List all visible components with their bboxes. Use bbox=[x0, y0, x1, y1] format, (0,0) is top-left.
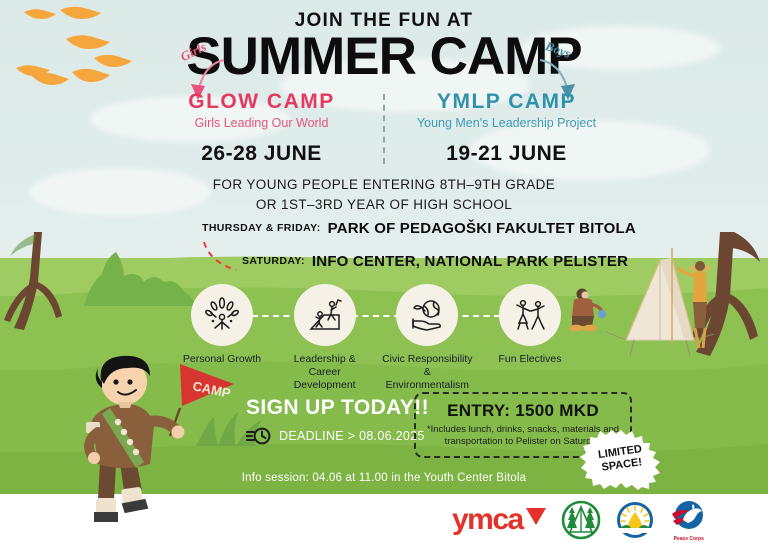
entry-price: ENTRY: 1500 MKD bbox=[424, 401, 622, 421]
feature-personal-growth: Personal Growth bbox=[176, 284, 268, 366]
summer-camp-poster: CAMP JOIN THE F bbox=[0, 0, 768, 543]
feature-label: Personal Growth bbox=[176, 353, 268, 366]
feature-icon-circle bbox=[191, 284, 253, 346]
locations-list: THURSDAY & FRIDAY: PARK OF PEDAGOŠKI FAK… bbox=[196, 216, 616, 282]
camp-columns: GLOW CAMP Girls Leading Our World 26-28 … bbox=[0, 90, 768, 166]
location-value: PARK OF PEDAGOŠKI FAKULTET BITOLA bbox=[328, 220, 636, 237]
feature-label: Leadership & Career Development bbox=[279, 353, 371, 392]
camp-glow: GLOW CAMP Girls Leading Our World 26-28 … bbox=[144, 90, 379, 166]
climbing-ladder-icon bbox=[305, 295, 345, 335]
features-list: Personal Growth Leadership & Career Deve… bbox=[176, 284, 576, 392]
camp-divider bbox=[383, 94, 385, 164]
camp-ymlp: YMLP CAMP Young Men's Leadership Project… bbox=[389, 90, 624, 166]
ymca-logo: ymca bbox=[452, 505, 547, 535]
audience-line-1: FOR YOUNG PEOPLE ENTERING 8TH–9TH GRADE bbox=[0, 175, 768, 195]
info-session-text: Info session: 04.06 at 11.00 in the Yout… bbox=[0, 472, 768, 484]
feature-label: Fun Electives bbox=[484, 353, 576, 366]
dancing-people-icon bbox=[510, 295, 550, 335]
clock-speed-icon bbox=[246, 426, 272, 446]
location-label: SATURDAY: bbox=[242, 255, 305, 267]
location-row: THURSDAY & FRIDAY: PARK OF PEDAGOŠKI FAK… bbox=[196, 216, 616, 240]
deadline-text: DEADLINE > 08.06.2025 bbox=[279, 429, 425, 443]
camp-forest-logo bbox=[561, 500, 601, 540]
camp-subtitle: Girls Leading Our World bbox=[144, 116, 379, 130]
camp-dates: 19-21 JUNE bbox=[389, 142, 624, 166]
camp-name: YMLP CAMP bbox=[389, 90, 624, 114]
feature-label: Civic Responsibility & Environmentalism bbox=[381, 353, 473, 392]
feature-leadership: Leadership & Career Development bbox=[279, 284, 371, 392]
camp-name: GLOW CAMP bbox=[144, 90, 379, 114]
location-value: INFO CENTER, NATIONAL PARK PELISTER bbox=[312, 253, 628, 270]
camp-subtitle: Young Men's Leadership Project bbox=[389, 116, 624, 130]
ymca-triangle-icon bbox=[525, 507, 547, 527]
location-label: THURSDAY & FRIDAY: bbox=[202, 222, 321, 234]
signup-title: SIGN UP TODAY!! bbox=[246, 396, 429, 420]
feature-icon-circle bbox=[499, 284, 561, 346]
signup-block: SIGN UP TODAY!! DEADLINE > 08.06.2025 bbox=[246, 396, 429, 446]
peace-corps-label: Peace Corps bbox=[669, 536, 709, 542]
location-row: SATURDAY: INFO CENTER, NATIONAL PARK PEL… bbox=[236, 249, 616, 273]
feature-civic: Civic Responsibility & Environmentalism bbox=[381, 284, 473, 392]
camp-dates: 26-28 JUNE bbox=[144, 142, 379, 166]
sun-mountain-logo bbox=[615, 500, 655, 540]
feature-icon-circle bbox=[396, 284, 458, 346]
audience-info: FOR YOUNG PEOPLE ENTERING 8TH–9TH GRADE … bbox=[0, 175, 768, 215]
growth-person-icon bbox=[202, 295, 242, 335]
ymca-wordmark: ymca bbox=[452, 505, 523, 535]
audience-line-2: OR 1ST–3RD YEAR OF HIGH SCHOOL bbox=[0, 195, 768, 215]
deadline-row: DEADLINE > 08.06.2025 bbox=[246, 426, 429, 446]
page-title: SUMMER CAMP bbox=[0, 26, 768, 87]
feature-fun-electives: Fun Electives bbox=[484, 284, 576, 366]
footer-logos: ymca bbox=[452, 499, 756, 541]
peace-corps-logo: Peace Corps bbox=[669, 500, 709, 540]
hand-earth-icon bbox=[407, 295, 447, 335]
feature-icon-circle bbox=[294, 284, 356, 346]
